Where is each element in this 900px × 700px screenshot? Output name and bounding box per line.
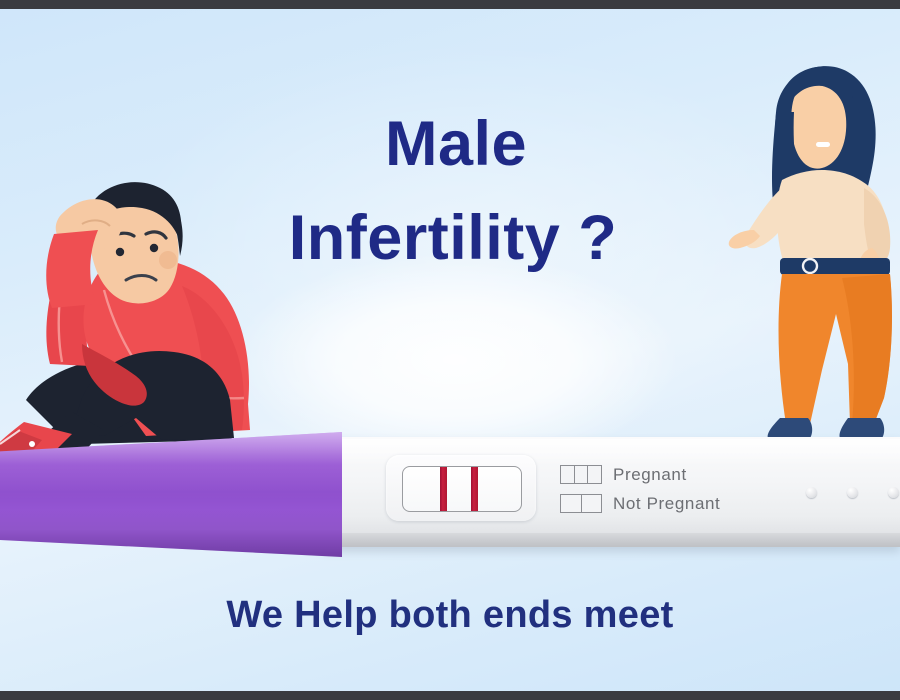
grip-dot <box>888 487 899 498</box>
legend-row-pregnant: Pregnant <box>560 460 720 489</box>
page-title-line-1: Male <box>12 112 900 176</box>
page-title: Male Infertility ? <box>0 112 900 271</box>
pregnant-key-icon <box>560 465 602 484</box>
test-device-cap <box>0 432 342 557</box>
test-result-window <box>386 455 536 521</box>
page-title-line-2: Infertility ? <box>6 206 900 270</box>
poster-canvas: Male Infertility ? Pregnant Not P <box>0 0 900 700</box>
test-result-window-inner <box>402 466 522 512</box>
grip-dot <box>806 487 817 498</box>
frame-bar-top <box>0 0 900 9</box>
test-result-legend: Pregnant Not Pregnant <box>560 460 720 518</box>
not-pregnant-key-icon <box>560 494 602 513</box>
legend-row-not-pregnant: Not Pregnant <box>560 489 720 518</box>
test-device-grip-dots <box>806 487 899 498</box>
result-line-1 <box>440 467 447 511</box>
tagline: We Help both ends meet <box>0 594 900 637</box>
frame-bar-bottom <box>0 691 900 700</box>
result-line-2 <box>471 467 478 511</box>
legend-label-pregnant: Pregnant <box>613 465 687 485</box>
grip-dot <box>847 487 858 498</box>
legend-label-not-pregnant: Not Pregnant <box>613 494 720 514</box>
